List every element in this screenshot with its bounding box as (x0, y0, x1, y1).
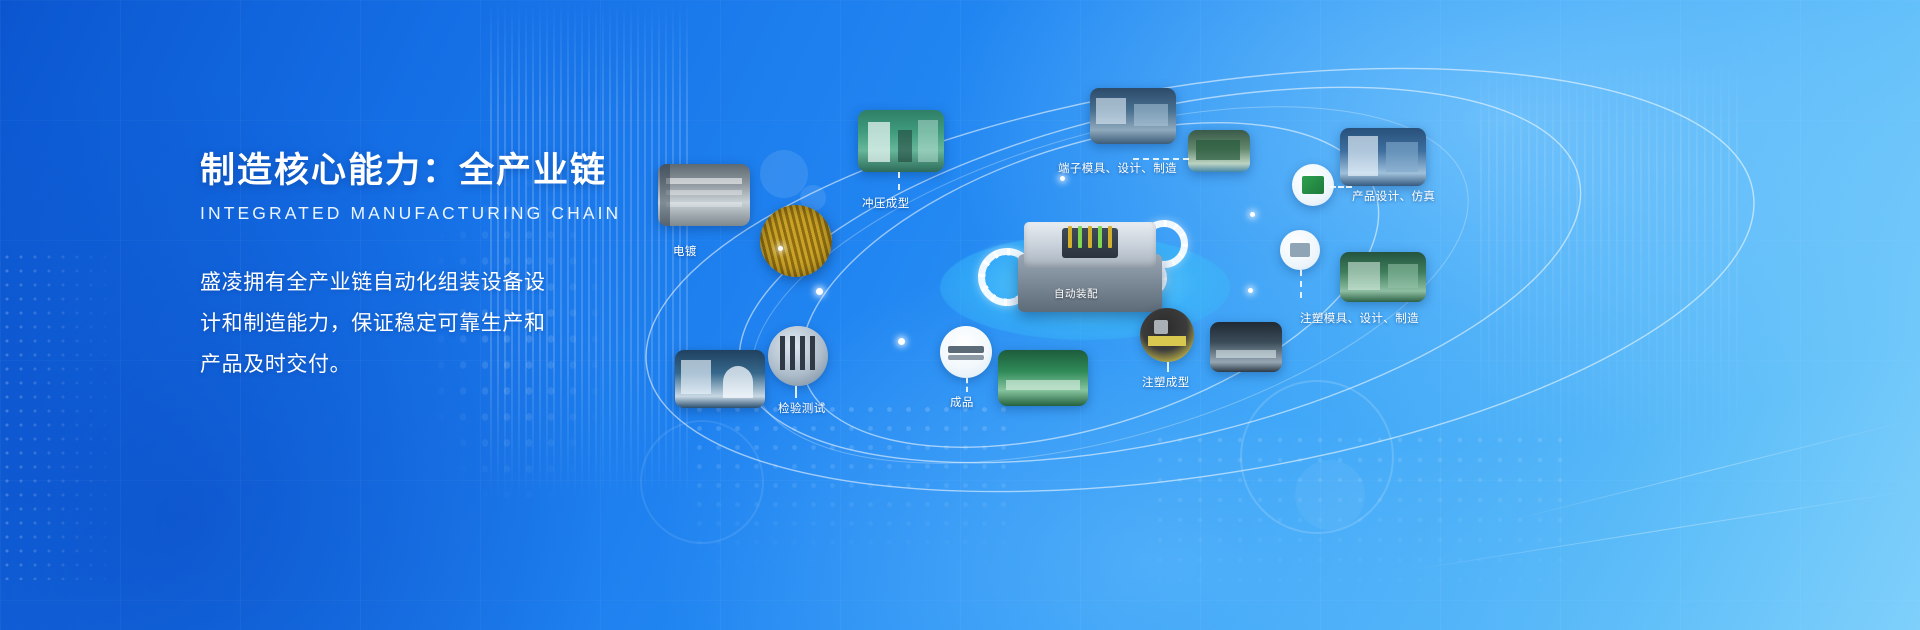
automatic-assembly-machine: 自动装配 (1010, 210, 1170, 320)
orbit-rings (640, 60, 1920, 580)
hero-description-line: 计和制造能力，保证稳定可靠生产和 (200, 303, 560, 344)
node-label-inspection-test: 检验测试 (778, 400, 826, 416)
mold-part-icon (1280, 230, 1320, 270)
connector-line (795, 386, 797, 398)
page-title: 制造核心能力：全产业链 (200, 148, 620, 194)
machine-pin (1078, 226, 1082, 248)
orbit-node-dot (1248, 288, 1253, 293)
hero-banner: 制造核心能力：全产业链 INTEGRATED MANUFACTURING CHA… (0, 0, 1920, 630)
machine-pin (1068, 226, 1072, 248)
orbit-node-dot (778, 246, 783, 251)
dot-matrix-left (0, 250, 120, 580)
node-label-terminal-mold: 端子模具、设计、制造 (1058, 160, 1177, 176)
connector-line (1300, 270, 1302, 298)
node-label-injection-forming: 注塑成型 (1142, 374, 1190, 390)
hero-description-line: 盛凌拥有全产业链自动化组装设备设 (200, 262, 560, 303)
mold-workshop-photo (1090, 88, 1176, 144)
page-subtitle: INTEGRATED MANUFACTURING CHAIN (200, 203, 620, 224)
connector-product-photo (940, 326, 992, 378)
assembly-line-photo (998, 350, 1088, 406)
orbit-node-dot (898, 338, 905, 345)
machine-pin (1108, 226, 1112, 248)
machine-pin (1088, 226, 1092, 248)
manufacturing-chain-diagram: 自动装配 电镀 冲压成型 (640, 60, 1920, 580)
orbit-node-dot (1060, 176, 1065, 181)
node-label-injection-mold: 注塑模具、设计、制造 (1300, 310, 1419, 326)
injection-machine-photo (1140, 308, 1194, 362)
machine-line-photo (1210, 322, 1282, 372)
connector-line (1167, 362, 1169, 372)
connector-line (966, 378, 968, 392)
3d-model-icon (1292, 164, 1334, 206)
injection-mold-photo (1340, 252, 1426, 302)
hero-description-line: 产品及时交付。 (200, 344, 560, 385)
node-label-plating: 电镀 (673, 243, 697, 259)
connector-line (898, 172, 900, 190)
cad-design-photo (1340, 128, 1426, 186)
node-label-stamping: 冲压成型 (862, 195, 910, 211)
lab-inspection-photo (675, 350, 765, 408)
test-fixture-photo (768, 326, 828, 386)
stamping-machine-photo (858, 110, 944, 172)
orbit-node-dot (816, 288, 823, 295)
machine-mold-top (1024, 222, 1156, 268)
connector-line (1330, 186, 1352, 188)
hero-copy: 制造核心能力：全产业链 INTEGRATED MANUFACTURING CHA… (200, 148, 620, 385)
hero-description: 盛凌拥有全产业链自动化组装设备设 计和制造能力，保证稳定可靠生产和 产品及时交付… (200, 262, 560, 385)
factory-line-photo (658, 164, 750, 226)
node-label-product-design: 产品设计、仿真 (1352, 188, 1435, 204)
orbit-node-dot (1250, 212, 1255, 217)
node-label-finished-goods: 成品 (950, 394, 974, 410)
center-label: 自动装配 (1054, 286, 1098, 301)
machine-pin (1098, 226, 1102, 248)
pcb-board-photo (1188, 130, 1250, 172)
